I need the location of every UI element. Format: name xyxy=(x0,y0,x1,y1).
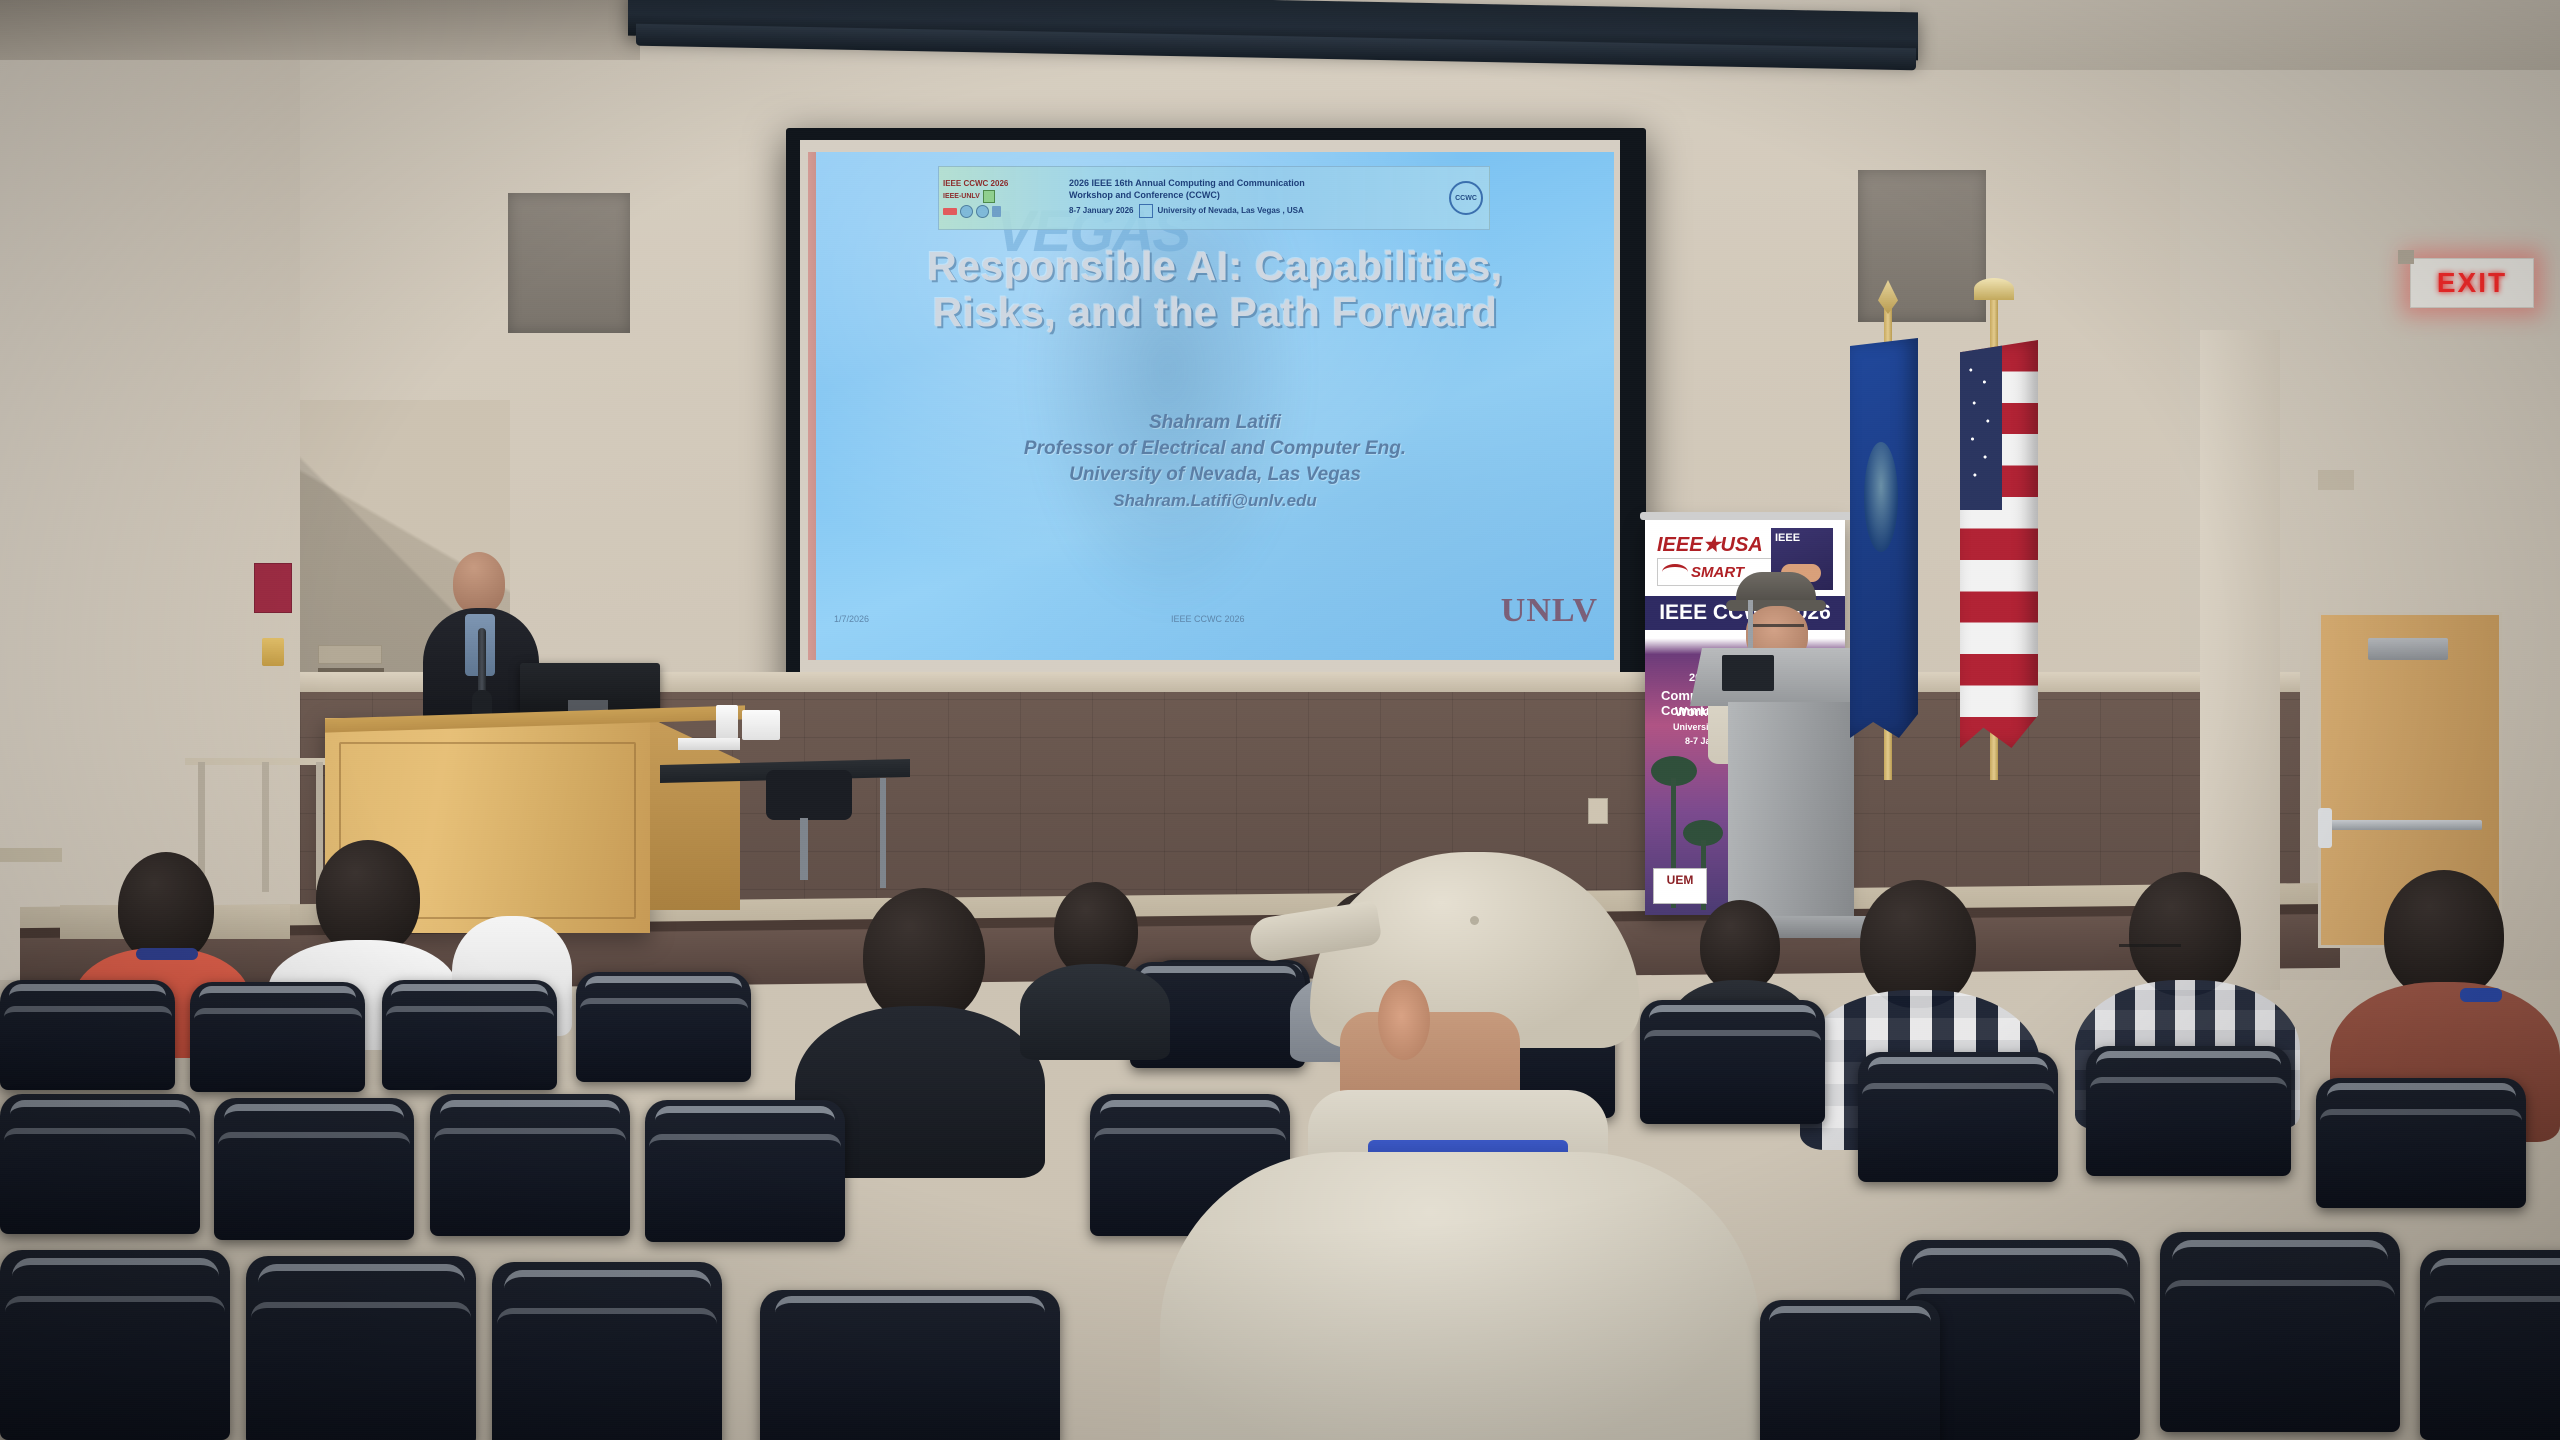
podium-laptop xyxy=(1722,655,1774,691)
slide-conference-banner: IEEE CCWC 2026 IEEE-UNLV 2026 IEEE 16th … xyxy=(938,166,1490,230)
pin-icon xyxy=(1139,204,1153,218)
stage-chair-base xyxy=(800,818,808,880)
presenter-affiliation: University of Nevada, Las Vegas xyxy=(826,462,1604,488)
stage-rail xyxy=(185,758,325,765)
unlv-logo: UNLV xyxy=(1501,592,1598,630)
exit-sign-mount xyxy=(2398,250,2414,264)
person-chip-icon xyxy=(992,206,1001,217)
banner-text-block: 2026 IEEE 16th Annual Computing and Comm… xyxy=(1065,175,1449,221)
cap-button-icon xyxy=(1470,916,1479,925)
audience-head xyxy=(1860,880,1976,1008)
seat[interactable] xyxy=(2420,1250,2560,1440)
banner-title-2: Workshop and Conference (CCWC) xyxy=(1069,190,1445,201)
audience-glasses-icon xyxy=(2119,944,2181,957)
circle-chip-icon-2 xyxy=(976,205,989,218)
ccwc-badge-icon: CCWC xyxy=(1449,181,1483,215)
usa-flag-stars xyxy=(1964,352,1998,502)
seat[interactable] xyxy=(430,1094,630,1236)
wall-outlet xyxy=(1588,798,1608,824)
banner-location: University of Nevada, Las Vegas , USA xyxy=(1158,206,1304,215)
door-handle[interactable] xyxy=(2318,808,2332,848)
speaker-glasses-icon xyxy=(1748,624,1804,637)
banner-logo-row-1: IEEE-UNLV xyxy=(943,190,1061,203)
acoustic-panel-left xyxy=(508,193,630,333)
banner-logo-row-2 xyxy=(943,205,1061,218)
projection-screen-frame: VEGAS IEEE CCWC 2026 IEEE-UNLV xyxy=(786,128,1646,700)
seat[interactable] xyxy=(0,1250,230,1440)
foreground-ear xyxy=(1378,980,1430,1060)
seat[interactable] xyxy=(576,972,751,1082)
wall-plate-right xyxy=(2318,470,2354,490)
banner-left-tag2: IEEE-UNLV xyxy=(943,193,980,200)
paper-stack xyxy=(678,738,740,750)
circle-chip-icon-1 xyxy=(960,205,973,218)
door-closer-icon xyxy=(2368,638,2448,660)
left-wall-return xyxy=(0,0,300,980)
seat[interactable] xyxy=(2086,1046,2291,1176)
seat[interactable] xyxy=(246,1256,476,1440)
seat[interactable] xyxy=(0,1094,200,1234)
ieee-tile-text: IEEE xyxy=(1771,528,1833,548)
seat[interactable] xyxy=(2160,1232,2400,1432)
fire-alarm-sign xyxy=(254,563,292,613)
side-table-leg xyxy=(880,778,886,888)
banner-meta-row: 8-7 January 2026 University of Nevada, L… xyxy=(1069,204,1445,218)
red-chip-icon xyxy=(943,208,957,215)
seat[interactable] xyxy=(645,1100,845,1242)
slide-title-line-1: Responsible AI: Capabilities, xyxy=(826,244,1604,290)
nevada-flag-emblem xyxy=(1864,442,1898,552)
audience-head xyxy=(316,840,420,956)
rollup-top-bar xyxy=(1640,512,1852,520)
seat[interactable] xyxy=(1760,1300,1940,1440)
seat[interactable] xyxy=(760,1290,1060,1440)
slide-title: Responsible AI: Capabilities, Risks, and… xyxy=(826,244,1604,336)
slide-title-line-2: Risks, and the Path Forward xyxy=(826,290,1604,336)
slide-footer-date: 1/7/2026 xyxy=(834,614,869,624)
slide-presenter-block: Shahram Latifi Professor of Electrical a… xyxy=(826,410,1604,512)
tissue-box xyxy=(742,710,780,740)
seat[interactable] xyxy=(190,982,365,1092)
lanyard xyxy=(136,948,198,960)
slide-footer-center: IEEE CCWC 2026 xyxy=(1171,614,1245,624)
seat[interactable] xyxy=(214,1098,414,1240)
ccwc-badge-text: CCWC xyxy=(1455,195,1477,202)
banner-logo-cluster: IEEE CCWC 2026 IEEE-UNLV xyxy=(939,177,1065,220)
banner-date: 8-7 January 2026 xyxy=(1069,206,1134,215)
united-states-flag xyxy=(1960,340,2038,748)
audience-head xyxy=(863,888,985,1024)
audience-head xyxy=(2129,872,2241,996)
foreground-person-with-cap xyxy=(1140,852,1760,1440)
water-cup xyxy=(716,705,738,739)
banner-left-tag: IEEE CCWC 2026 xyxy=(943,179,1061,188)
seat[interactable] xyxy=(0,980,175,1090)
slide-surface: VEGAS IEEE CCWC 2026 IEEE-UNLV xyxy=(816,152,1614,660)
wall-vent xyxy=(318,645,382,664)
nevada-state-flag xyxy=(1850,338,1918,738)
exit-sign-text: EXIT xyxy=(2437,267,2507,299)
stage-chair xyxy=(766,770,852,820)
seat[interactable] xyxy=(382,980,557,1090)
ieee-usa-logo: IEEE★USA xyxy=(1657,532,1763,557)
ceiling-band xyxy=(0,0,640,60)
presenter-email: Shahram.Latifi@unlv.edu xyxy=(826,489,1604,512)
lanyard xyxy=(2460,988,2502,1002)
moderator-head xyxy=(453,552,505,614)
fire-alarm-pull-station[interactable] xyxy=(262,638,284,666)
acoustic-panel-right xyxy=(1858,170,1986,322)
door-push-bar[interactable] xyxy=(2330,820,2482,830)
wall-ledge-left xyxy=(0,848,62,862)
presenter-name: Shahram Latifi xyxy=(826,410,1604,436)
seat[interactable] xyxy=(492,1262,722,1440)
seat[interactable] xyxy=(1858,1052,2058,1182)
foreground-torso xyxy=(1160,1152,1760,1440)
exit-sign: EXIT xyxy=(2410,258,2534,308)
upper-soffit-right xyxy=(1900,0,2560,70)
auditorium-photo: VEGAS IEEE CCWC 2026 IEEE-UNLV xyxy=(0,0,2560,1440)
seat[interactable] xyxy=(2316,1078,2526,1208)
presenter-title: Professor of Electrical and Computer Eng… xyxy=(826,436,1604,462)
usa-flag-eagle-icon xyxy=(1974,278,2014,300)
smart-curve-icon xyxy=(1662,564,1688,580)
audience-head xyxy=(2384,870,2504,1000)
banner-title-1: 2026 IEEE 16th Annual Computing and Comm… xyxy=(1069,178,1445,189)
green-chip-icon xyxy=(983,190,995,203)
